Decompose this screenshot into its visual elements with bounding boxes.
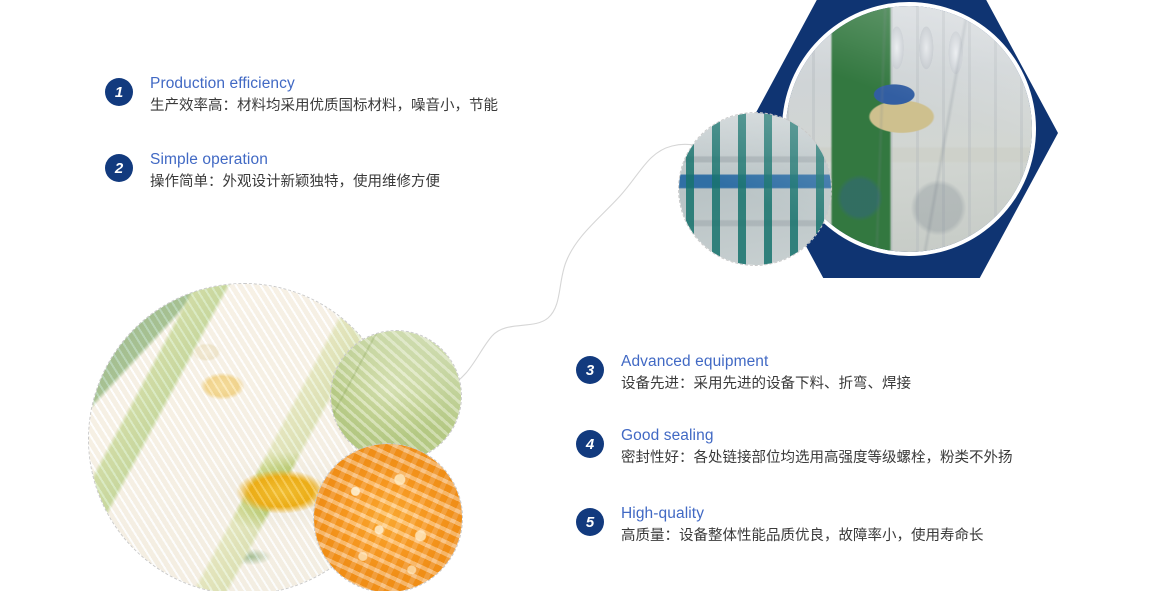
feature-item-1[interactable]: 1 Production efficiency 生产效率高：材料均采用优质国标材…: [105, 74, 498, 117]
feature-number-badge-2: 2: [105, 154, 133, 182]
feature-title-2: Simple operation: [150, 150, 440, 169]
feature-text-4: Good sealing 密封性好：各处链接部位均选用高强度等级螺栓，粉类不外扬: [621, 426, 1013, 469]
feature-title-1: Production efficiency: [150, 74, 498, 93]
feature-description-2: 操作简单：外观设计新颖独特，使用维修方便: [150, 171, 440, 193]
corn-grits-photo: [313, 443, 463, 591]
feature-item-3[interactable]: 3 Advanced equipment 设备先进：采用先进的设备下料、折弯、焊…: [576, 352, 911, 395]
green-milling-machine-photo: [678, 112, 832, 266]
feature-description-3: 设备先进：采用先进的设备下料、折弯、焊接: [621, 373, 911, 395]
feature-item-2[interactable]: 2 Simple operation 操作简单：外观设计新颖独特，使用维修方便: [105, 150, 440, 193]
feature-description-5: 高质量：设备整体性能品质优良，故障率小，使用寿命长: [621, 525, 984, 547]
feature-title-5: High-quality: [621, 504, 984, 523]
feature-number-badge-1: 1: [105, 78, 133, 106]
feature-item-4[interactable]: 4 Good sealing 密封性好：各处链接部位均选用高强度等级螺栓，粉类不…: [576, 426, 1013, 469]
feature-text-5: High-quality 高质量：设备整体性能品质优良，故障率小，使用寿命长: [621, 504, 984, 547]
corn-flour-photo: [330, 330, 462, 462]
feature-text-2: Simple operation 操作简单：外观设计新颖独特，使用维修方便: [150, 150, 440, 193]
feature-title-3: Advanced equipment: [621, 352, 911, 371]
feature-number-badge-5: 5: [576, 508, 604, 536]
feature-title-4: Good sealing: [621, 426, 1013, 445]
feature-number-badge-3: 3: [576, 356, 604, 384]
feature-description-1: 生产效率高：材料均采用优质国标材料，噪音小，节能: [150, 95, 498, 117]
feature-number-badge-4: 4: [576, 430, 604, 458]
feature-text-1: Production efficiency 生产效率高：材料均采用优质国标材料，…: [150, 74, 498, 117]
feature-infographic: 1 Production efficiency 生产效率高：材料均采用优质国标材…: [0, 0, 1154, 591]
feature-text-3: Advanced equipment 设备先进：采用先进的设备下料、折弯、焊接: [621, 352, 911, 395]
feature-item-5[interactable]: 5 High-quality 高质量：设备整体性能品质优良，故障率小，使用寿命长: [576, 504, 984, 547]
feature-description-4: 密封性好：各处链接部位均选用高强度等级螺栓，粉类不外扬: [621, 447, 1013, 469]
